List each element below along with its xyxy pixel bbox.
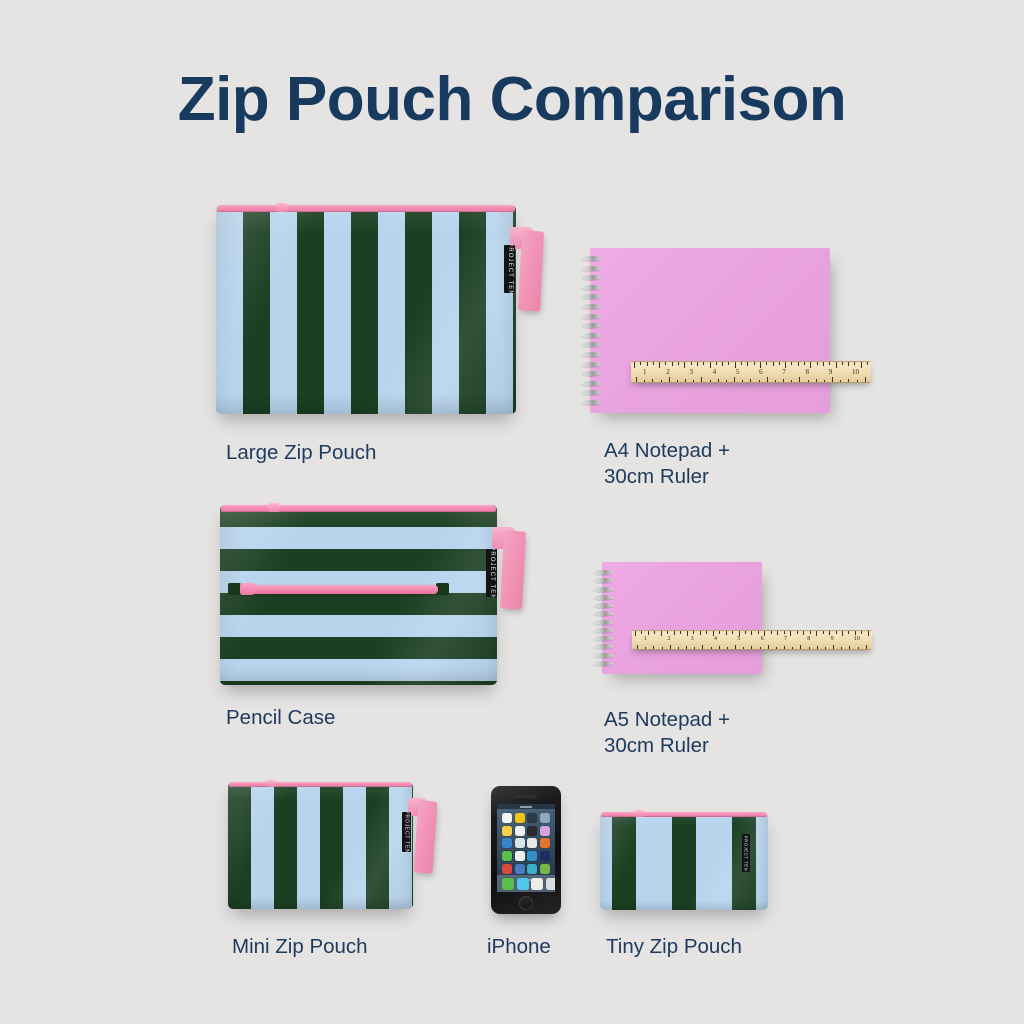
app-icon[interactable] bbox=[515, 813, 525, 823]
product-large-zip-pouch[interactable]: PROJECT TEN bbox=[216, 205, 516, 414]
home-button[interactable] bbox=[519, 896, 533, 910]
caption-iphone: iPhone bbox=[487, 934, 607, 960]
caption-tiny-zip-pouch: Tiny Zip Pouch bbox=[606, 934, 826, 960]
spiral-coil bbox=[593, 595, 613, 600]
zipper-pull[interactable] bbox=[634, 810, 644, 817]
spiral-coil bbox=[581, 266, 601, 271]
spiral-coil bbox=[581, 333, 601, 338]
spiral-coil bbox=[581, 304, 601, 309]
dock-app-icon[interactable] bbox=[502, 878, 514, 890]
ruler-number: 9 bbox=[831, 636, 834, 642]
spiral-coil bbox=[593, 661, 613, 666]
brand-tag-text: PROJECT TEN bbox=[489, 549, 495, 597]
group-a5-notepad-ruler: 1 2 3 4 5 6 7 8 9 10 bbox=[592, 562, 882, 687]
caption-pencil-case: Pencil Case bbox=[226, 705, 486, 731]
app-icon[interactable] bbox=[502, 826, 512, 836]
stripe-pattern-vertical bbox=[228, 782, 413, 909]
ruler-30cm[interactable]: 1 2 3 4 5 6 7 8 9 10 bbox=[632, 630, 872, 650]
ruler-ticks-bottom bbox=[632, 645, 872, 649]
page-title: Zip Pouch Comparison bbox=[0, 64, 1024, 135]
product-tiny-zip-pouch[interactable]: PROJECT TEN bbox=[600, 812, 768, 910]
ruler-ticks-bottom bbox=[631, 377, 871, 382]
stripe-pattern-vertical bbox=[216, 205, 516, 414]
zipper-pull[interactable] bbox=[276, 203, 288, 212]
front-zipper[interactable] bbox=[240, 585, 438, 594]
ruler-edge bbox=[631, 382, 871, 383]
spiral-coil bbox=[581, 381, 601, 386]
app-icon[interactable] bbox=[515, 838, 525, 848]
spiral-coil bbox=[593, 620, 613, 625]
spiral-coil bbox=[593, 653, 613, 658]
app-icon[interactable] bbox=[527, 851, 537, 861]
zipper-top[interactable] bbox=[221, 505, 496, 512]
zipper-pull[interactable] bbox=[266, 780, 276, 787]
brand-tag-text: PROJECT TEN bbox=[404, 812, 410, 852]
ruler-number: 5 bbox=[736, 368, 740, 376]
app-icon[interactable] bbox=[527, 864, 537, 874]
spiral-coil bbox=[581, 371, 601, 376]
caption-a5-notepad-ruler: A5 Notepad + 30cm Ruler bbox=[604, 707, 864, 759]
spiral-binding bbox=[581, 256, 601, 405]
product-iphone[interactable] bbox=[491, 786, 561, 914]
stripe-pattern-horizontal bbox=[220, 505, 497, 685]
ruler-numbers: 1 2 3 4 5 6 7 8 9 10 bbox=[631, 368, 871, 376]
spiral-coil bbox=[581, 275, 601, 280]
infographic-canvas: Zip Pouch Comparison PROJECT TEN Large Z… bbox=[0, 0, 1024, 1024]
pull-tab[interactable] bbox=[518, 230, 544, 311]
app-icon[interactable] bbox=[540, 826, 550, 836]
spiral-coil bbox=[581, 314, 601, 319]
app-dock[interactable] bbox=[497, 875, 555, 892]
spiral-coil bbox=[593, 578, 613, 583]
ruler-number: 8 bbox=[806, 368, 810, 376]
ruler-numbers: 1 2 3 4 5 6 7 8 9 10 bbox=[632, 636, 872, 642]
ruler-number: 3 bbox=[689, 368, 693, 376]
zipper-top[interactable] bbox=[217, 205, 515, 212]
caption-mini-zip-pouch: Mini Zip Pouch bbox=[232, 934, 452, 960]
ruler-number: 9 bbox=[829, 368, 833, 376]
brand-tag-text: PROJECT TEN bbox=[744, 835, 749, 871]
zipper-top[interactable] bbox=[229, 782, 412, 787]
ruler-number: 2 bbox=[667, 636, 670, 642]
app-icon[interactable] bbox=[527, 813, 537, 823]
ruler-number: 10 bbox=[852, 368, 859, 376]
ruler-30cm[interactable]: 1 2 3 4 5 6 7 8 9 10 bbox=[631, 361, 871, 383]
dock-app-icon[interactable] bbox=[517, 878, 529, 890]
spiral-coil bbox=[593, 603, 613, 608]
spiral-coil bbox=[581, 362, 601, 367]
dock-app-icon[interactable] bbox=[546, 878, 556, 890]
spiral-coil bbox=[593, 636, 613, 641]
ruler-number: 10 bbox=[854, 636, 860, 642]
app-icon[interactable] bbox=[540, 838, 550, 848]
ruler-number: 1 bbox=[644, 636, 647, 642]
ruler-number: 5 bbox=[737, 636, 740, 642]
spiral-coil bbox=[593, 587, 613, 592]
spiral-coil bbox=[593, 570, 613, 575]
zipper-pull[interactable] bbox=[268, 503, 280, 512]
spiral-coil bbox=[581, 342, 601, 347]
app-icon[interactable] bbox=[502, 838, 512, 848]
app-icon[interactable] bbox=[502, 864, 512, 874]
group-a4-notepad-ruler: 1 2 3 4 5 6 7 8 9 10 bbox=[578, 248, 888, 418]
app-icon[interactable] bbox=[540, 813, 550, 823]
ruler-number: 6 bbox=[759, 368, 763, 376]
brand-tag-text: PROJECT TEN bbox=[507, 245, 513, 293]
ruler-number: 2 bbox=[666, 368, 670, 376]
brand-tag: PROJECT TEN bbox=[742, 834, 750, 872]
pouch-body bbox=[228, 782, 413, 909]
ruler-number: 3 bbox=[691, 636, 694, 642]
app-icon[interactable] bbox=[540, 851, 550, 861]
app-icon[interactable] bbox=[527, 826, 537, 836]
pouch-body bbox=[216, 205, 516, 414]
app-icon[interactable] bbox=[515, 826, 525, 836]
spiral-coil bbox=[581, 352, 601, 357]
ruler-number: 4 bbox=[713, 368, 717, 376]
ruler-number: 4 bbox=[714, 636, 717, 642]
iphone-screen[interactable] bbox=[497, 804, 555, 892]
dock-app-icon[interactable] bbox=[531, 878, 543, 890]
ruler-number: 1 bbox=[643, 368, 647, 376]
caption-a4-notepad-ruler: A4 Notepad + 30cm Ruler bbox=[604, 438, 864, 490]
pull-tab[interactable] bbox=[500, 530, 526, 609]
spiral-binding bbox=[593, 570, 613, 666]
product-pencil-case[interactable]: PROJECT TEN bbox=[220, 505, 497, 685]
ruler-number: 8 bbox=[807, 636, 810, 642]
product-mini-zip-pouch[interactable]: PROJECT TEN bbox=[228, 782, 413, 909]
app-icon[interactable] bbox=[502, 851, 512, 861]
caption-large-zip-pouch: Large Zip Pouch bbox=[226, 440, 506, 466]
pull-tab[interactable] bbox=[414, 800, 438, 873]
spiral-coil bbox=[593, 611, 613, 616]
notepad-a4[interactable] bbox=[590, 248, 830, 413]
app-icon[interactable] bbox=[540, 864, 550, 874]
spiral-coil bbox=[593, 628, 613, 633]
spiral-coil bbox=[581, 400, 601, 405]
ruler-edge bbox=[632, 649, 872, 650]
front-camera-icon bbox=[513, 795, 516, 798]
brand-tag: PROJECT TEN bbox=[504, 245, 515, 293]
ruler-number: 7 bbox=[782, 368, 786, 376]
app-icon[interactable] bbox=[515, 851, 525, 861]
pouch-body bbox=[220, 505, 497, 685]
app-icon[interactable] bbox=[502, 813, 512, 823]
spiral-coil bbox=[581, 323, 601, 328]
app-icon[interactable] bbox=[515, 864, 525, 874]
app-grid[interactable] bbox=[497, 809, 555, 878]
brand-tag: PROJECT TEN bbox=[402, 812, 411, 852]
ruler-number: 6 bbox=[761, 636, 764, 642]
notepad-a5[interactable] bbox=[602, 562, 762, 674]
front-zipper-slider[interactable] bbox=[240, 583, 257, 595]
ruler-number: 7 bbox=[784, 636, 787, 642]
spiral-coil bbox=[581, 256, 601, 261]
app-icon[interactable] bbox=[527, 838, 537, 848]
spiral-coil bbox=[593, 644, 613, 649]
brand-tag: PROJECT TEN bbox=[486, 549, 497, 597]
zipper-top[interactable] bbox=[601, 812, 767, 817]
spiral-coil bbox=[581, 285, 601, 290]
spiral-coil bbox=[581, 294, 601, 299]
spiral-coil bbox=[581, 390, 601, 395]
earpiece-icon bbox=[515, 795, 537, 798]
